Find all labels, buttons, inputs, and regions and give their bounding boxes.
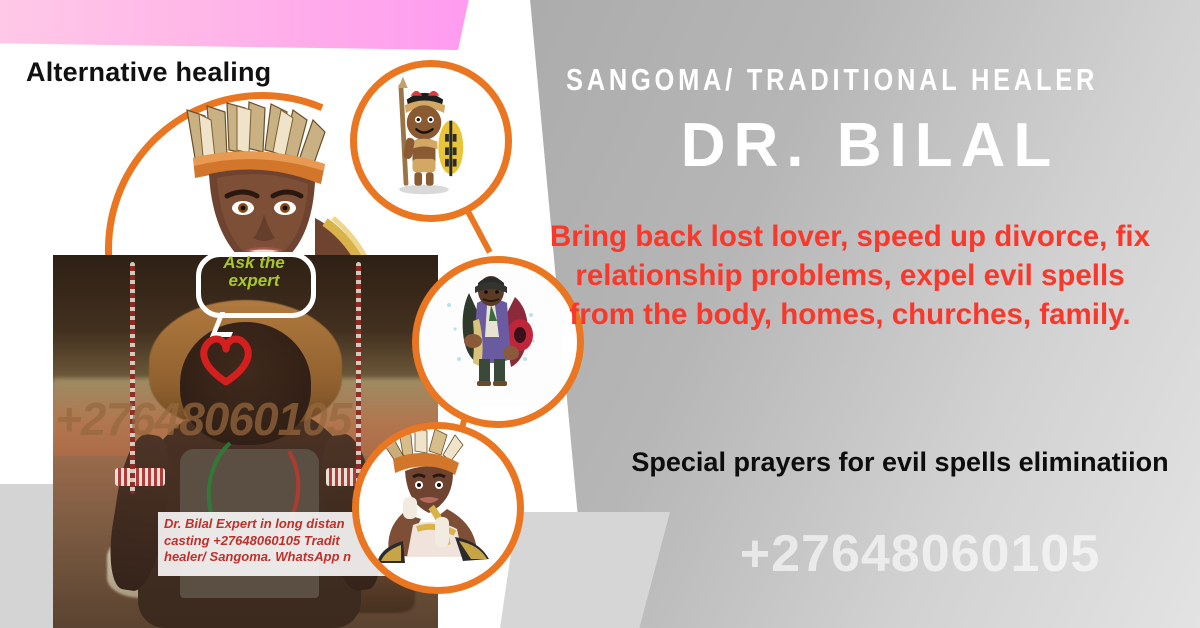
poster-canvas: Alternative healing <box>0 0 1200 628</box>
phone-watermark: +27648060105 <box>640 524 1200 584</box>
caption-line-3: healer/ Sangoma. WhatsApp n <box>164 549 384 566</box>
services-text: Bring back lost lover, speed up divorce,… <box>540 218 1160 335</box>
circle-badge-1 <box>350 60 512 222</box>
pink-accent-bar <box>0 0 470 50</box>
gray-block-bottom-left <box>0 484 58 628</box>
photo-phone-watermark: +27648060105 <box>55 392 435 446</box>
page-title: Alternative healing <box>26 57 271 88</box>
speech-bubble-label: Ask the expert <box>200 254 308 290</box>
red-heart-outline-icon <box>196 332 256 386</box>
brand-name: DR. BILAL <box>560 110 1180 181</box>
kicker-text: SANGOMA/ TRADITIONAL HEALER <box>566 62 1068 98</box>
crouching-warrior-icon <box>359 429 503 573</box>
circle-badge-3 <box>352 422 524 594</box>
prayers-text: Special prayers for evil spells eliminat… <box>610 445 1190 480</box>
caption-line-1: Dr. Bilal Expert in long distan <box>164 516 384 533</box>
zulu-warrior-cartoon-icon <box>357 67 491 201</box>
caption-line-2: casting +27648060105 Tradit <box>164 533 384 550</box>
